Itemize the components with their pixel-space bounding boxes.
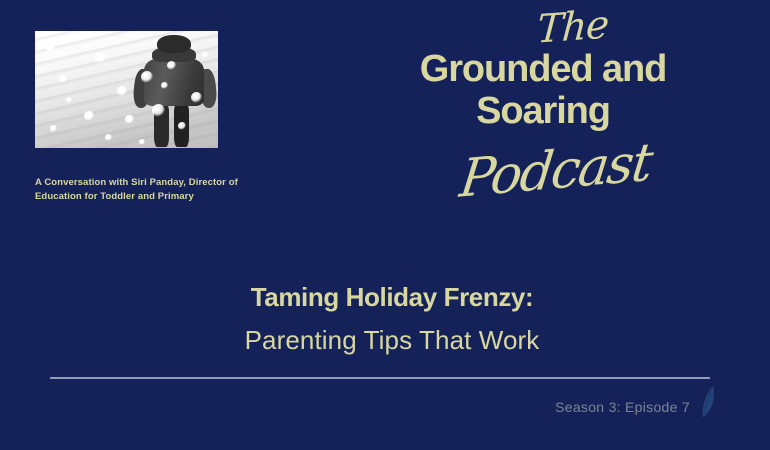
leaf-icon: [700, 384, 716, 418]
brand-title-line-1: Grounded and: [398, 49, 688, 91]
episode-guest-photo: [35, 31, 218, 148]
photo-block: A Conversation with Siri Panday, Directo…: [35, 31, 218, 205]
figure-hood: [157, 35, 191, 53]
episode-title: Taming Holiday Frenzy:: [14, 283, 770, 313]
brand-word-podcast: Podcast: [458, 136, 655, 205]
podcast-brand-lockup: The Grounded and Soaring Podcast: [398, 8, 688, 197]
brand-word-the: The: [536, 5, 610, 49]
photo-caption: A Conversation with Siri Panday, Directo…: [35, 176, 267, 205]
podcast-episode-slide: A Conversation with Siri Panday, Directo…: [0, 0, 770, 450]
brand-title: Grounded and Soaring: [398, 49, 688, 133]
brand-title-line-2: Soaring: [398, 91, 688, 133]
episode-subtitle: Parenting Tips That Work: [14, 325, 770, 356]
episode-season-tag: Season 3: Episode 7: [555, 399, 690, 415]
footer-divider: [50, 377, 710, 379]
episode-title-block: Taming Holiday Frenzy: Parenting Tips Th…: [0, 283, 770, 356]
